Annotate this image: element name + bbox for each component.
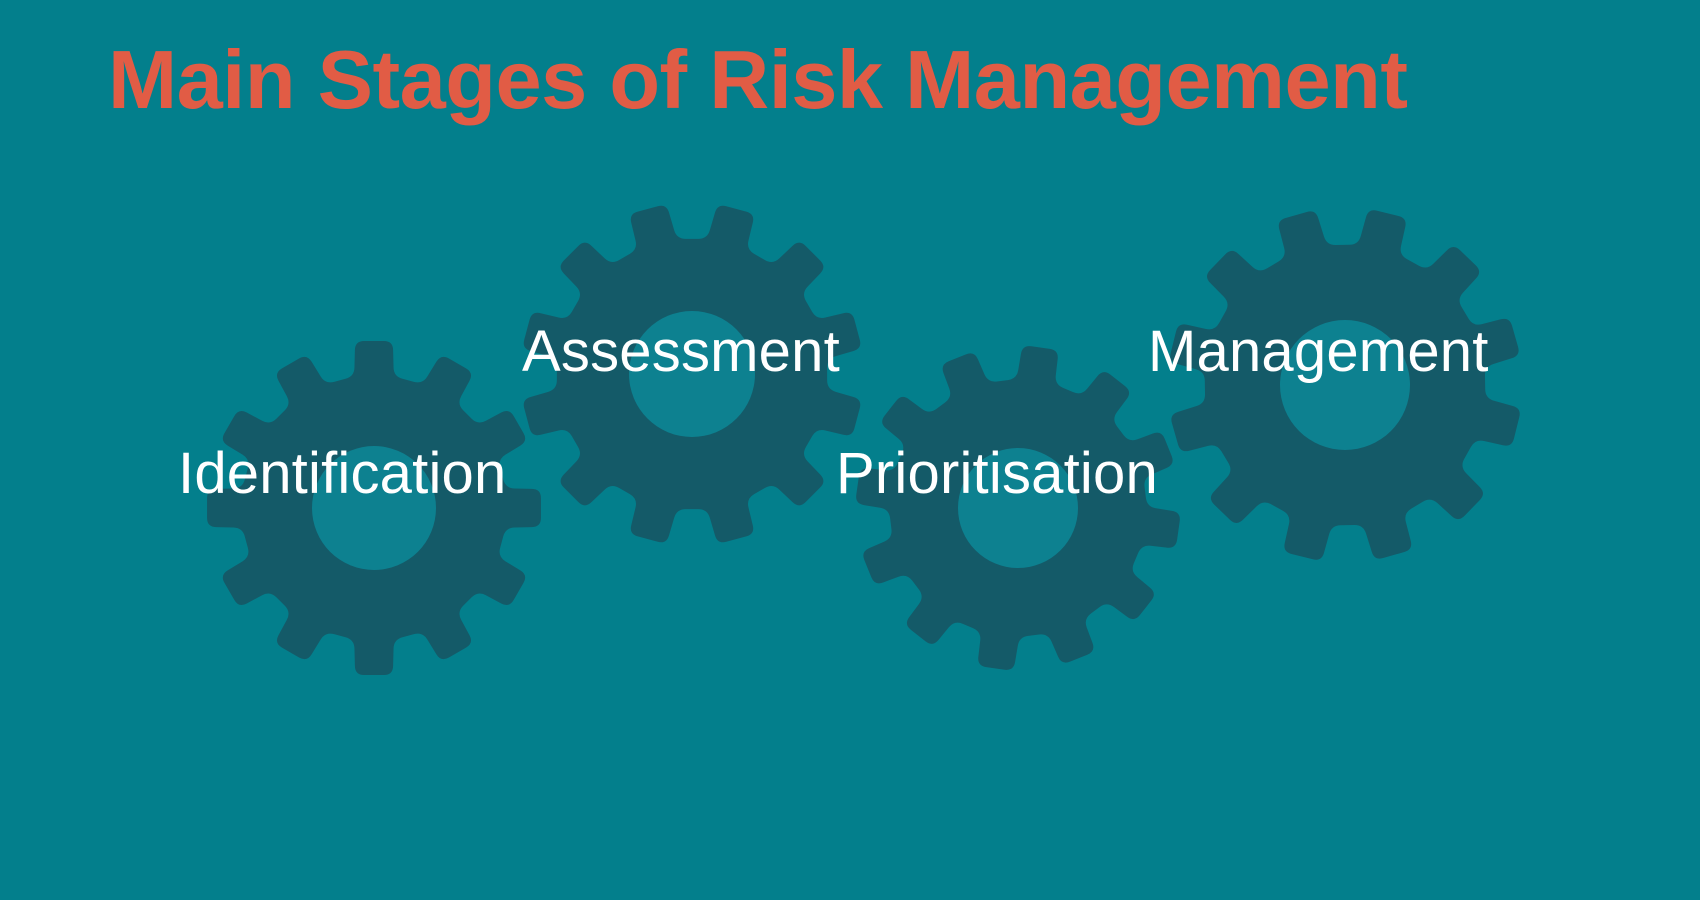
gear-identification: [207, 341, 541, 675]
stage-label-identification: Identification: [178, 440, 506, 507]
stage-label-assessment: Assessment: [522, 318, 840, 385]
gear-prioritisation: [856, 346, 1180, 670]
gear-management: [1170, 210, 1519, 559]
slide-canvas: Main Stages of Risk Management Identific…: [0, 0, 1700, 900]
stage-label-management: Management: [1148, 318, 1489, 385]
stage-label-prioritisation: Prioritisation: [836, 440, 1158, 507]
